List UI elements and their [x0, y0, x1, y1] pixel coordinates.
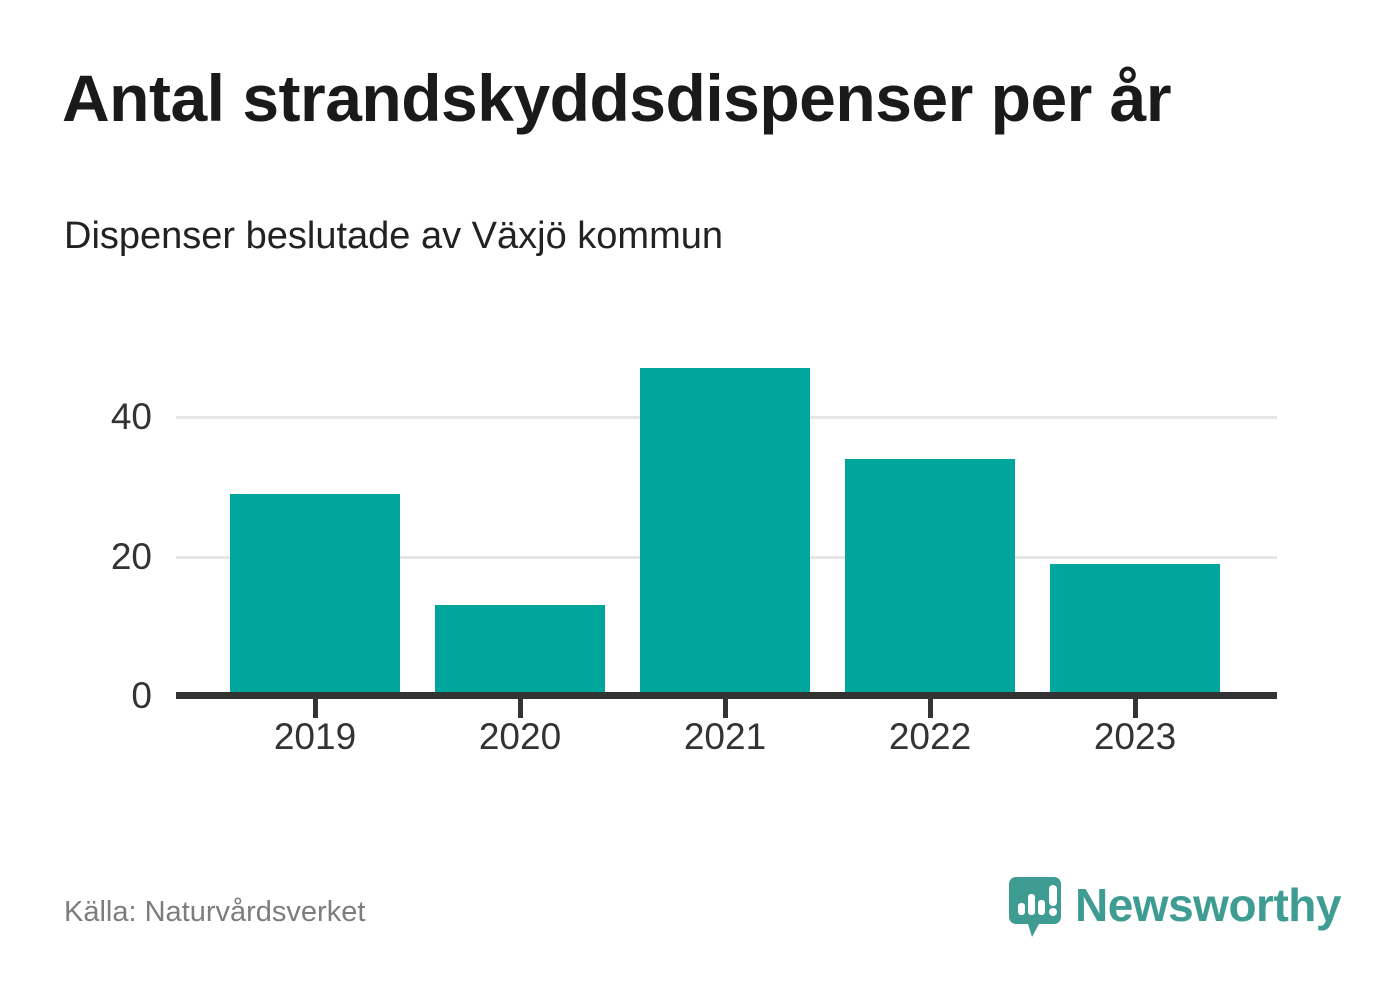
x-tick-label-2023: 2023 [1025, 718, 1245, 755]
x-axis-line [176, 692, 1277, 699]
bar-2022[interactable] [845, 459, 1015, 696]
plot-area [176, 360, 1277, 696]
x-tick-label-2019: 2019 [205, 718, 425, 755]
bar-2023[interactable] [1050, 564, 1220, 696]
chart-subtitle: Dispenser beslutade av Växjö kommun [64, 214, 1314, 260]
chart-page: Antal strandskyddsdispenser per år Dispe… [0, 0, 1382, 999]
bar-2021[interactable] [640, 368, 810, 696]
x-tick-label-2022: 2022 [820, 718, 1040, 755]
y-tick-label-20: 20 [32, 538, 152, 575]
page-title: Antal strandskyddsdispenser per år [62, 62, 1322, 136]
chart-bubble-icon [1009, 877, 1061, 939]
y-tick-label-40: 40 [32, 398, 152, 435]
bar-2020[interactable] [435, 605, 605, 696]
x-tick-label-2021: 2021 [615, 718, 835, 755]
x-tick-label-2020: 2020 [410, 718, 630, 755]
source-note: Källa: Naturvårdsverket [64, 898, 365, 927]
bar-2019[interactable] [230, 494, 400, 696]
y-tick-label-0: 0 [32, 677, 152, 714]
newsworthy-logo[interactable]: Newsworthy [1009, 875, 1341, 941]
y-axis: 40 20 0 [24, 0, 152, 999]
logo-wordmark: Newsworthy [1075, 882, 1341, 928]
